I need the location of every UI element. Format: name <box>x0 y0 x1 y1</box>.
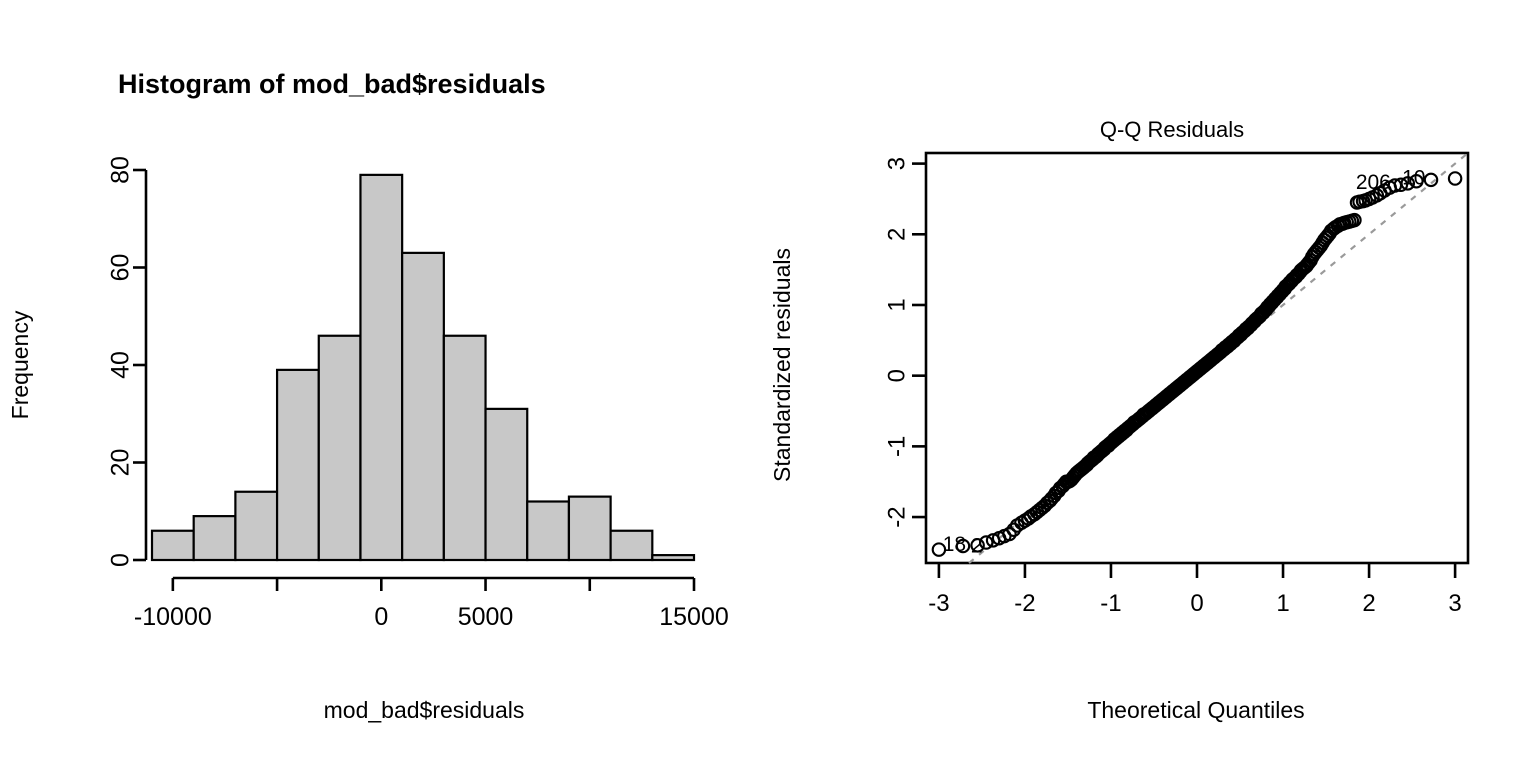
histogram-svg: Histogram of mod_bad$residuals Frequency… <box>0 0 768 768</box>
histogram-x-tick-label: 15000 <box>659 603 729 631</box>
histogram-y-axis-label: Frequency <box>7 310 33 419</box>
qq-x-tick-label: -2 <box>1014 590 1035 617</box>
qq-x-tick-label: 0 <box>1190 590 1203 617</box>
qq-x-axis-label: Theoretical Quantiles <box>1087 697 1304 723</box>
histogram-y-tick-label: 40 <box>107 351 135 379</box>
qq-x-tick-label: -1 <box>1100 590 1121 617</box>
qq-y-tick-label: 2 <box>883 228 910 241</box>
qq-y-tick-label: 3 <box>883 157 910 170</box>
plot-canvas: Histogram of mod_bad$residuals Frequency… <box>0 0 1536 768</box>
qq-y-tick-label: -2 <box>883 506 910 527</box>
qq-outlier-label: 2 <box>971 534 983 557</box>
histogram-x-axis-label: mod_bad$residuals <box>324 697 525 723</box>
histogram-panel: Histogram of mod_bad$residuals Frequency… <box>0 0 768 768</box>
qq-plot-frame <box>926 153 1468 563</box>
histogram-bar <box>444 336 486 560</box>
histogram-bars <box>152 175 694 560</box>
histogram-bar <box>277 370 319 560</box>
histogram-bar <box>486 409 528 560</box>
qq-x-tick-label: 2 <box>1362 590 1375 617</box>
qq-frame-rect <box>926 153 1468 563</box>
histogram-x-axis: -100000500015000 <box>134 578 729 631</box>
histogram-x-tick-label: -10000 <box>134 603 212 631</box>
histogram-y-axis: 020406080 <box>107 156 146 567</box>
histogram-y-tick-label: 0 <box>107 553 135 567</box>
histogram-bar <box>611 531 653 560</box>
histogram-x-tick-label: 0 <box>374 603 388 631</box>
histogram-bar <box>194 516 236 560</box>
histogram-bar <box>360 175 402 560</box>
qq-x-tick-label: -3 <box>928 590 949 617</box>
qq-data-points <box>933 172 1462 556</box>
qq-x-tick-label: 1 <box>1276 590 1289 617</box>
histogram-y-tick-label: 80 <box>107 156 135 184</box>
histogram-y-tick-label: 20 <box>107 449 135 477</box>
qq-outlier-label: 10 <box>1402 167 1425 190</box>
qq-y-axis-label: Standardized residuals <box>769 248 795 482</box>
histogram-bar <box>569 497 611 560</box>
qq-plot-svg: Q-Q Residuals Standardized residuals The… <box>768 0 1536 768</box>
histogram-bar <box>402 253 444 560</box>
histogram-bar <box>527 502 569 561</box>
qq-x-axis: -3-2-10123 <box>928 563 1462 617</box>
histogram-x-tick-label: 5000 <box>458 603 514 631</box>
histogram-bar <box>152 531 194 560</box>
qq-plot-title: Q-Q Residuals <box>1100 117 1244 142</box>
qq-outlier-label: 206 <box>1356 171 1391 194</box>
qq-y-axis: -2-10123 <box>883 157 926 528</box>
histogram-title: Histogram of mod_bad$residuals <box>118 69 546 99</box>
qq-y-tick-label: 1 <box>883 298 910 311</box>
qq-y-tick-label: 0 <box>883 369 910 382</box>
qq-x-tick-label: 3 <box>1448 590 1461 617</box>
qq-plot-panel: Q-Q Residuals Standardized residuals The… <box>768 0 1536 768</box>
histogram-y-tick-label: 60 <box>107 254 135 282</box>
qq-y-tick-label: -1 <box>883 436 910 457</box>
qq-point <box>1449 172 1461 184</box>
histogram-bar <box>319 336 361 560</box>
histogram-bar <box>235 492 277 560</box>
qq-outlier-label: 18 <box>943 533 966 556</box>
histogram-bar <box>652 555 694 560</box>
